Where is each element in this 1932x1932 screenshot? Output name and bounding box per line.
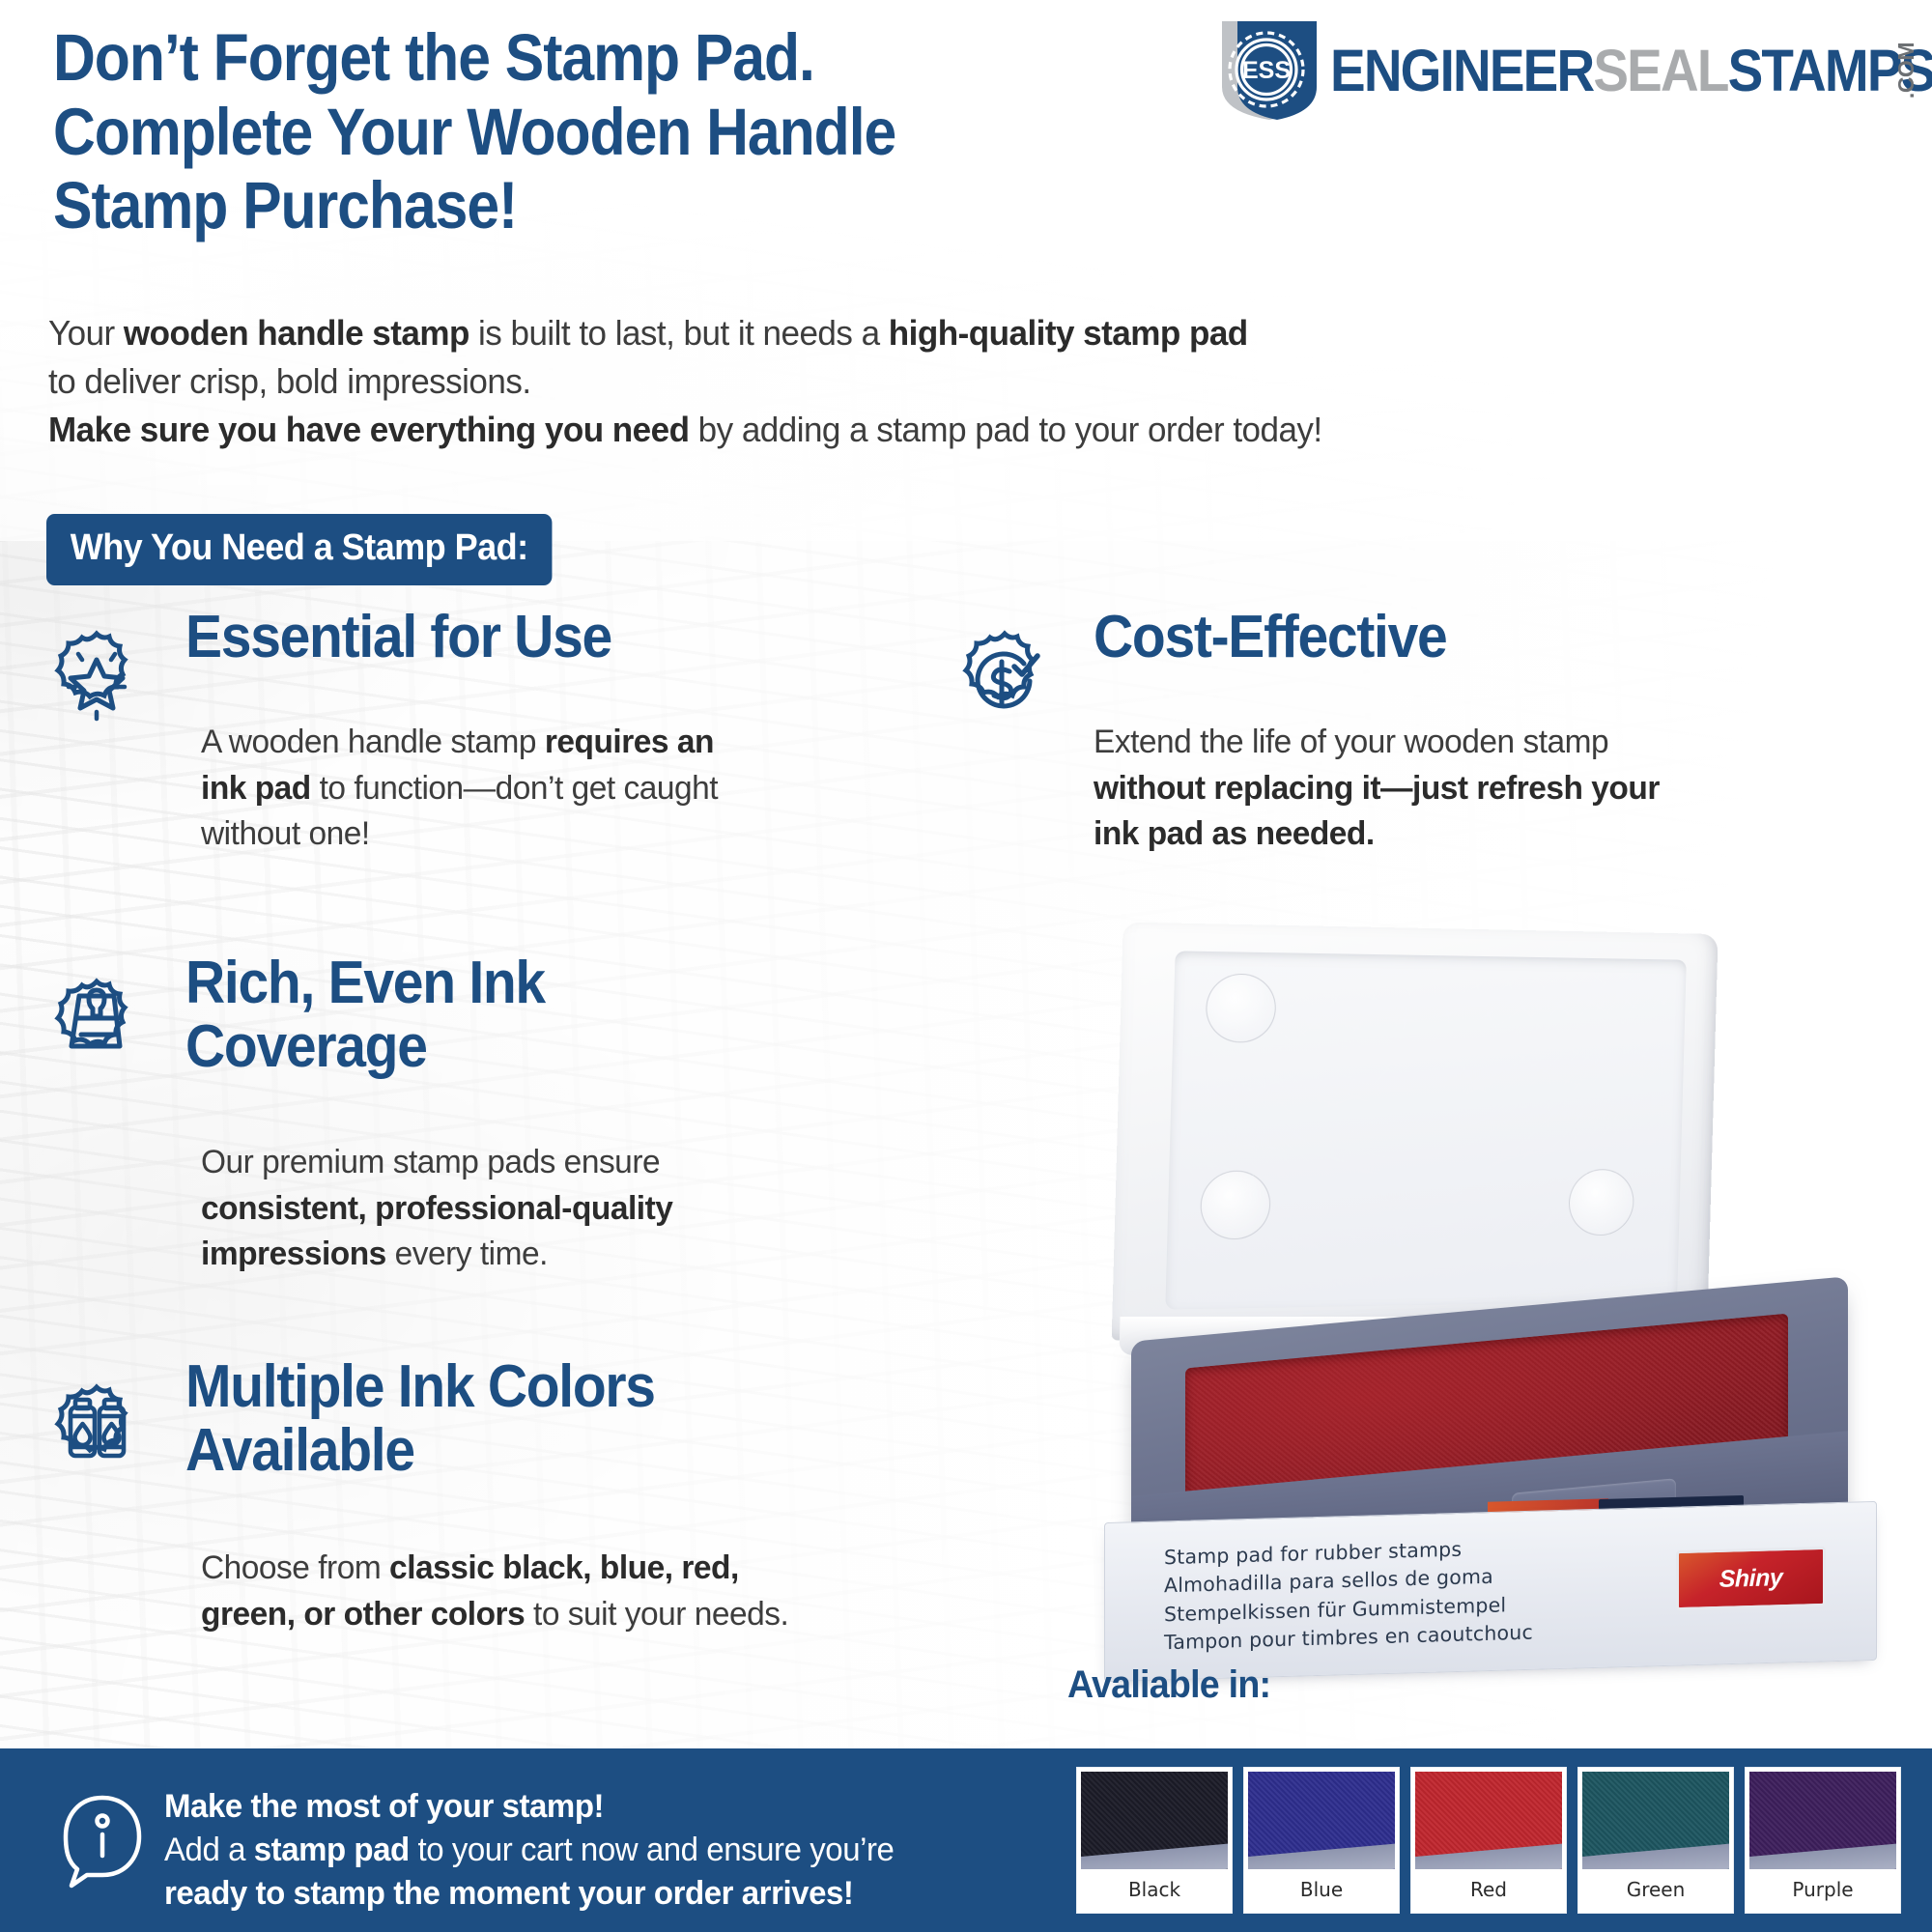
ess-monogram: ESS xyxy=(1242,57,1291,84)
stamp-pad-lid xyxy=(1112,923,1719,1341)
header: Don’t Forget the Stamp Pad. Complete You… xyxy=(0,0,1932,290)
lid-dimple xyxy=(1205,973,1276,1042)
feature-title-line: Multiple Ink Colors xyxy=(185,1355,655,1419)
ink-color-swatches: Black Blue Red Green Purple xyxy=(1077,1768,1900,1913)
swatch-chip xyxy=(1749,1772,1896,1869)
headline-line-2: Complete Your Wooden Handle xyxy=(53,96,1107,170)
swatch-label: Blue xyxy=(1248,1869,1395,1909)
logo-word-seal: SEAL xyxy=(1593,38,1727,103)
feature-title-line: Cost-Effective xyxy=(1094,606,1446,669)
feature-body: Our premium stamp pads ensure consistent… xyxy=(201,1140,672,1278)
footer-line-1: Make the most of your stamp! xyxy=(164,1785,1008,1829)
feature-title: Multiple Ink Colors Available xyxy=(185,1355,655,1484)
badge-dollar-check-icon xyxy=(947,623,1063,739)
feature-title: Rich, Even Ink Coverage xyxy=(185,952,545,1080)
shiny-brand-logo: Shiny xyxy=(1676,1547,1826,1610)
feature-title-line: Coverage xyxy=(185,1015,545,1079)
badge-star-icon xyxy=(39,623,155,739)
why-banner: Why You Need a Stamp Pad: xyxy=(46,514,552,585)
swatch-purple[interactable]: Purple xyxy=(1746,1768,1900,1913)
feature-body-line: Choose from classic black, blue, red, xyxy=(201,1546,788,1592)
page-title: Don’t Forget the Stamp Pad. Complete You… xyxy=(53,21,1107,243)
infographic-page: Don’t Forget the Stamp Pad. Complete You… xyxy=(0,0,1932,1932)
swatch-blue[interactable]: Blue xyxy=(1244,1768,1399,1913)
swatch-label: Red xyxy=(1415,1869,1562,1909)
available-in-label: Avaliable in: xyxy=(1067,1663,1270,1707)
intro-line-2: to deliver crisp, bold impressions. xyxy=(48,357,1532,406)
stamp-pad-product-photo: S·C Stamp pad for rubber stamps Almohadi… xyxy=(1096,923,1898,1686)
footer-line-2: Add a stamp pad to your cart now and ens… xyxy=(164,1829,1008,1872)
feature-body-line: ink pad as needed. xyxy=(1094,811,1660,858)
swatch-black[interactable]: Black xyxy=(1077,1768,1232,1913)
footer-text: Make the most of your stamp! Add a stamp… xyxy=(164,1785,1008,1917)
carton-box-text: Stamp pad for rubber stamps Almohadilla … xyxy=(1164,1530,1666,1658)
feature-title-line: Rich, Even Ink xyxy=(185,952,545,1015)
lid-dimple xyxy=(1568,1169,1634,1236)
headline-line-3: Stamp Purchase! xyxy=(53,169,1107,243)
feature-body-line: consistent, professional-quality xyxy=(201,1186,672,1233)
ess-shield-icon: ESS xyxy=(1203,17,1328,122)
logo-word-com: .COM xyxy=(1893,43,1919,99)
headline-line-1: Don’t Forget the Stamp Pad. xyxy=(53,21,1107,96)
intro-line-1: Your wooden handle stamp is built to las… xyxy=(48,309,1532,357)
swatch-label: Green xyxy=(1582,1869,1729,1909)
feature-body-line: A wooden handle stamp requires an xyxy=(201,720,718,766)
swatch-label: Black xyxy=(1081,1869,1228,1909)
badge-ink-bottles-icon xyxy=(39,1377,155,1492)
feature-body-line: without one! xyxy=(201,811,718,858)
feature-title: Cost-Effective xyxy=(1094,606,1446,669)
shiny-brand-label: Shiny xyxy=(1719,1564,1783,1594)
swatch-label: Purple xyxy=(1749,1869,1896,1909)
badge-stamp-icon xyxy=(39,971,155,1087)
swatch-green[interactable]: Green xyxy=(1578,1768,1733,1913)
swatch-chip xyxy=(1582,1772,1729,1869)
logo-wordmark: ENGINEERSEALSTAMPS xyxy=(1330,37,1932,104)
feature-body-line: Our premium stamp pads ensure xyxy=(201,1140,672,1186)
swatch-chip xyxy=(1081,1772,1228,1869)
feature-title: Essential for Use xyxy=(185,606,611,669)
swatch-chip xyxy=(1248,1772,1395,1869)
feature-body-line: Extend the life of your wooden stamp xyxy=(1094,720,1660,766)
swatch-red[interactable]: Red xyxy=(1411,1768,1566,1913)
feature-title-line: Available xyxy=(185,1419,655,1483)
intro-paragraph: Your wooden handle stamp is built to las… xyxy=(48,309,1532,454)
footer-line-3: ready to stamp the moment your order arr… xyxy=(164,1872,1008,1916)
feature-body: Choose from classic black, blue, red, gr… xyxy=(201,1546,788,1637)
feature-body-line: green, or other colors to suit your need… xyxy=(201,1592,788,1638)
info-bubble-icon xyxy=(58,1792,147,1889)
swatch-chip xyxy=(1415,1772,1562,1869)
feature-body-line: without replacing it—just refresh your xyxy=(1094,766,1660,812)
feature-body-line: impressions every time. xyxy=(201,1232,672,1278)
logo-word-engineer: ENGINEER xyxy=(1330,38,1593,103)
feature-title-line: Essential for Use xyxy=(185,606,611,669)
feature-body-line: ink pad to function—don’t get caught xyxy=(201,766,718,812)
feature-body: Extend the life of your wooden stamp wit… xyxy=(1094,720,1660,858)
intro-line-3: Make sure you have everything you need b… xyxy=(48,406,1532,454)
stamp-pad-lid-inner xyxy=(1165,951,1687,1309)
lid-dimple xyxy=(1200,1171,1271,1240)
feature-body: A wooden handle stamp requires an ink pa… xyxy=(201,720,718,858)
brand-logo[interactable]: ESS ENGINEERSEALSTAMPS .COM xyxy=(1203,17,1913,124)
